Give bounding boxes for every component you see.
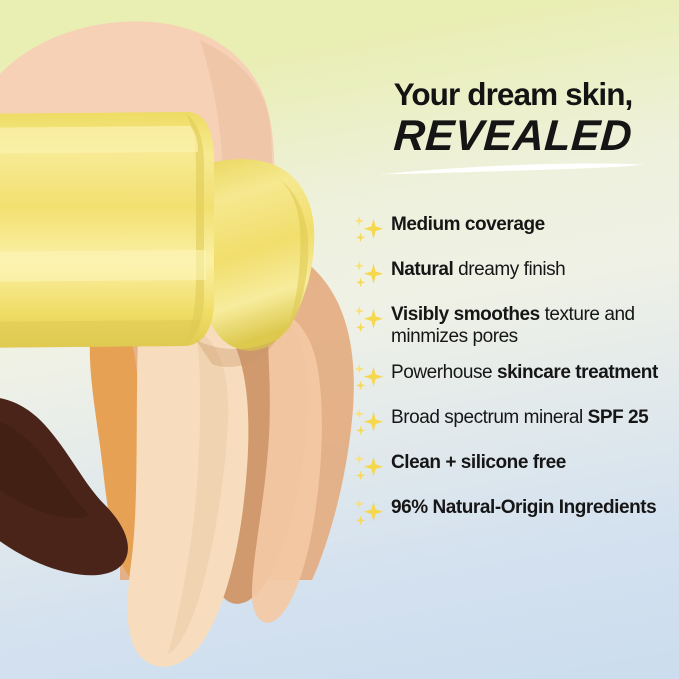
sparkle-icon: [353, 498, 385, 528]
content-column: Your dream skin, REVEALED Medium coverag…: [347, 0, 679, 679]
sparkle-icon: [353, 363, 385, 393]
list-item-text: Broad spectrum mineral SPF 25: [391, 406, 679, 429]
list-item-text: Clean + silicone free: [391, 451, 679, 474]
list-item: 96% Natural-Origin Ingredients: [353, 496, 679, 528]
list-item-text: 96% Natural-Origin Ingredients: [391, 496, 679, 519]
benefits-list: Medium coverage Natural dreamy finish: [353, 213, 679, 541]
list-item-text: Visibly smoothes texture and minmizes po…: [391, 303, 679, 348]
sparkle-icon: [353, 260, 385, 290]
sparkle-icon: [353, 453, 385, 483]
list-item: Powerhouse skincare treatment: [353, 361, 679, 393]
sparkle-icon: [353, 305, 385, 335]
product-marketing-image: Your dream skin, REVEALED Medium coverag…: [0, 0, 679, 679]
headline-line-2-wrapper: REVEALED: [347, 114, 679, 172]
headline-line-1: Your dream skin,: [347, 78, 679, 111]
list-item: Medium coverage: [353, 213, 679, 245]
headline-block: Your dream skin, REVEALED: [347, 78, 679, 172]
sparkle-icon: [353, 215, 385, 245]
sparkle-icon: [353, 408, 385, 438]
list-item-text: Powerhouse skincare treatment: [391, 361, 679, 384]
list-item-text: Medium coverage: [391, 213, 679, 236]
headline-line-2: REVEALED: [345, 114, 679, 159]
list-item: Visibly smoothes texture and minmizes po…: [353, 303, 679, 348]
product-artwork: [0, 0, 360, 679]
list-item: Broad spectrum mineral SPF 25: [353, 406, 679, 438]
brush-underline-icon: [378, 161, 648, 177]
list-item: Clean + silicone free: [353, 451, 679, 483]
list-item-text: Natural dreamy finish: [391, 258, 679, 281]
list-item: Natural dreamy finish: [353, 258, 679, 290]
